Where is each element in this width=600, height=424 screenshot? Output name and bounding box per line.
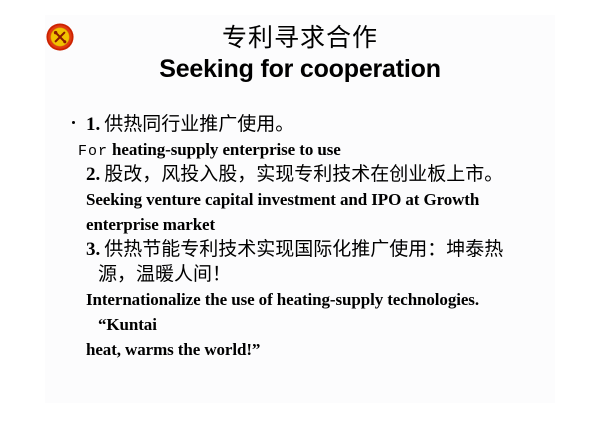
slide-title-block: 专利寻求合作 Seeking for cooperation: [45, 22, 555, 85]
item3-text-en-c: heat, warms the world!”: [86, 340, 260, 359]
item2-text-en-b: enterprise market: [86, 215, 215, 234]
item1-en-prefix: For: [78, 143, 108, 160]
item2-text-en-a: Seeking venture capital investment and I…: [86, 190, 479, 209]
body-line-item3-en-b: “Kuntai: [68, 312, 558, 337]
body-line-item3-en-c: heat, warms the world!”: [68, 337, 558, 362]
item3-marker: 3.: [86, 239, 100, 260]
item1-text-cn: 供热同行业推广使用。: [104, 113, 294, 135]
body-line-item2-en-a: Seeking venture capital investment and I…: [68, 187, 558, 212]
title-chinese: 专利寻求合作: [45, 22, 555, 53]
body-line-item1-en: For heating-supply enterprise to use: [68, 137, 558, 162]
item1-marker: 1.: [86, 114, 100, 135]
item3-text-cn-a: 供热节能专利技术实现国际化推广使用：坤泰热: [104, 238, 503, 260]
body-line-item2-en-b: enterprise market: [68, 212, 558, 237]
body-line-item2-cn: 2. 股改，风投入股，实现专利技术在创业板上市。: [68, 162, 558, 187]
item3-text-en-b: “Kuntai: [98, 315, 157, 334]
item3-text-cn-b: 源，温暖人间！: [98, 263, 231, 285]
item1-text-en: heating-supply enterprise to use: [112, 140, 341, 159]
bullet-dot-icon: [72, 121, 75, 124]
body-line-item1-cn: 1. 供热同行业推广使用。: [68, 112, 558, 137]
presentation-slide: 专利寻求合作 Seeking for cooperation 1. 供热同行业推…: [0, 0, 600, 424]
body-line-item3-cn-a: 3. 供热节能专利技术实现国际化推广使用：坤泰热: [68, 237, 558, 262]
title-english: Seeking for cooperation: [45, 53, 555, 85]
body-line-item3-cn-b: 源，温暖人间！: [68, 262, 558, 287]
item2-text-cn: 股改，风投入股，实现专利技术在创业板上市。: [104, 163, 503, 185]
item3-text-en-a: Internationalize the use of heating-supp…: [86, 290, 479, 309]
slide-body: 1. 供热同行业推广使用。 For heating-supply enterpr…: [68, 112, 558, 362]
item2-marker: 2.: [86, 164, 100, 185]
body-line-item3-en-a: Internationalize the use of heating-supp…: [68, 287, 558, 312]
